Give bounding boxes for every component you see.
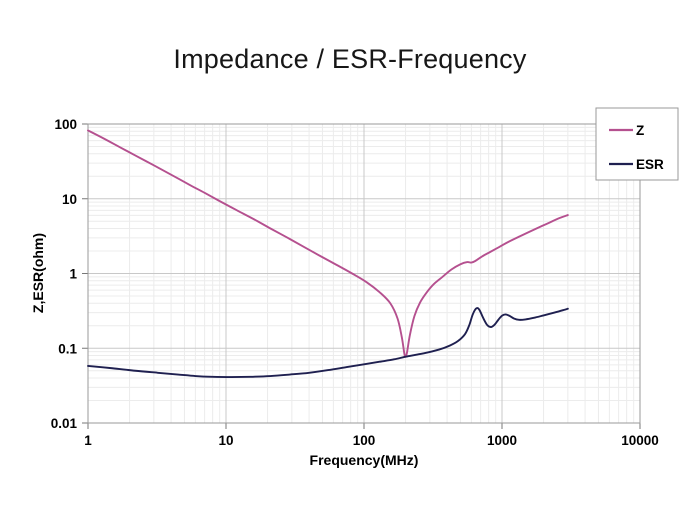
y-tick-label: 0.1: [58, 341, 77, 356]
x-axis-title: Frequency(MHz): [310, 452, 419, 468]
legend-label-esr: ESR: [636, 157, 664, 172]
x-tick-label: 10: [218, 433, 233, 448]
chart-page: Impedance / ESR-Frequency 11010010001000…: [0, 0, 700, 530]
x-tick-label: 10000: [621, 433, 659, 448]
x-tick-label: 1000: [487, 433, 517, 448]
legend: Z ESR: [596, 108, 678, 180]
legend-label-z: Z: [636, 123, 644, 138]
y-tick-label: 1: [69, 267, 77, 282]
y-tick-label: 0.01: [51, 416, 78, 431]
impedance-esr-chart: 110100100010000 1001010.10.01 Frequency(…: [0, 0, 700, 530]
y-axis-tick-labels: 1001010.10.01: [51, 117, 78, 431]
x-tick-label: 1: [84, 433, 92, 448]
y-axis-title: Z,ESR(ohm): [30, 233, 46, 313]
x-axis-tick-labels: 110100100010000: [84, 433, 659, 448]
y-tick-label: 10: [62, 192, 77, 207]
y-tick-label: 100: [54, 117, 77, 132]
x-tick-label: 100: [353, 433, 376, 448]
